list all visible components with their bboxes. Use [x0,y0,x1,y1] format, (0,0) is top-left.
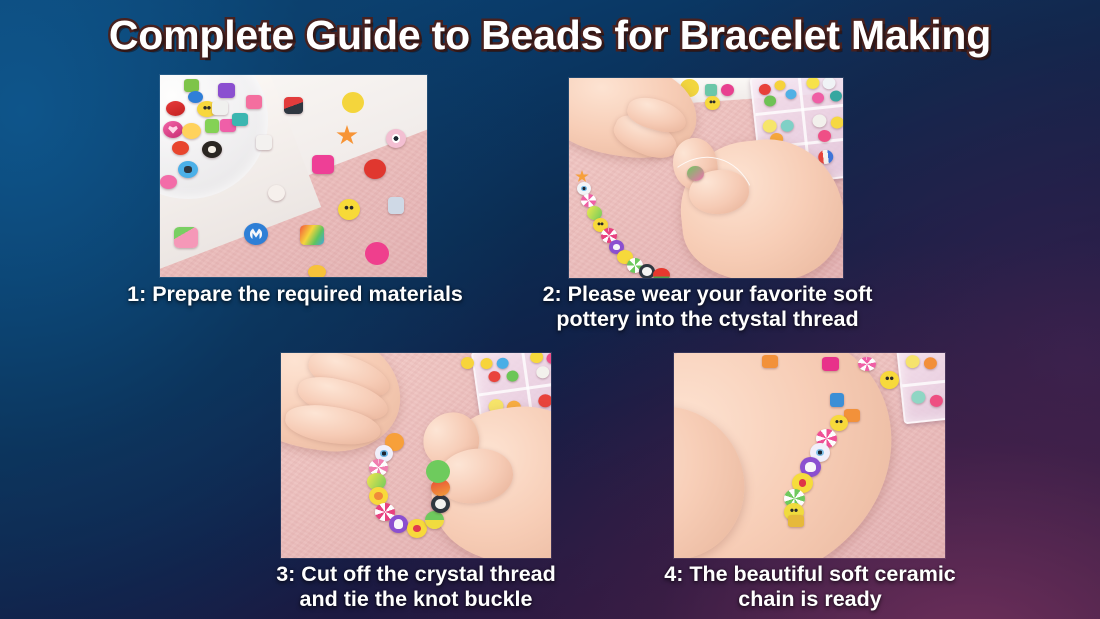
step-3-caption: 3: Cut off the crystal thread and tie th… [226,562,606,612]
bead [762,119,777,133]
bead [338,199,360,220]
bead [246,95,262,109]
ghost-motif [613,244,620,251]
organizer-divider [902,378,945,388]
bead [806,78,820,90]
bead [721,84,734,96]
bead-organizer-box [896,353,945,424]
bead [174,227,198,248]
flower-motif [374,492,383,501]
step-2-caption: 2: Please wear your favorite soft potter… [480,282,935,332]
step-3-caption-line1: 3: Cut off the crystal thread [226,562,606,587]
poster-canvas: Complete Guide to Beads for Bracelet Mak… [0,0,1100,619]
bead [830,415,848,431]
bead [785,89,797,100]
bead [764,95,777,107]
bead [858,357,876,371]
bead [880,371,899,389]
bead [653,268,670,278]
bead [172,141,189,155]
step-3-caption-line2: and tie the knot buckle [226,587,606,612]
bead [431,495,450,513]
bead [184,79,199,92]
step-1-photo [160,75,427,277]
bead [386,129,406,148]
bead [811,92,824,104]
smiley-face [833,418,845,428]
bead [163,121,183,138]
bead [212,101,228,115]
step-1-image [160,75,427,277]
step-3-image [281,353,551,558]
bead [425,511,444,529]
step-4-caption-line1: 4: The beautiful soft ceramic [610,562,1010,587]
eye-motif [380,450,387,457]
bead [368,245,386,262]
ghost-motif [805,462,816,472]
bead [284,97,303,114]
heart-motif [168,125,178,133]
bead-pattern [208,146,217,154]
step-1-caption: 1: Prepare the required materials [60,282,530,307]
bead [431,479,450,496]
bead [830,393,844,407]
soccer-motif [435,499,446,510]
step-4-image [674,353,945,558]
bead [364,159,386,179]
bead-pattern [184,166,192,173]
bead [529,353,544,364]
bead [537,393,551,408]
step-4-caption-line2: chain is ready [610,587,1010,612]
bead [812,114,827,128]
bead [911,390,926,404]
bead [244,223,268,245]
bead [923,357,937,370]
ghost-motif [394,519,404,528]
bead [536,365,551,379]
bead [496,357,509,370]
bead [758,83,771,95]
smiley-face [342,203,356,216]
bead [829,90,842,102]
bead [780,119,794,132]
step-2-photo [569,78,843,278]
bead [389,515,408,533]
bead [160,175,177,189]
soccer-motif [642,267,652,276]
bead [205,119,219,133]
bead [905,354,920,368]
step-2-caption-line1: 2: Please wear your favorite soft [480,282,935,307]
bead [705,84,717,96]
bead [488,370,501,383]
bead [300,225,324,245]
bead-being-threaded [687,166,704,181]
step-1-caption-line1: 1: Prepare the required materials [60,282,530,307]
bead [308,265,326,277]
step-2-caption-line2: pottery into the ctystal thread [480,307,935,332]
lips-motif [413,525,420,532]
bead [407,519,427,538]
bead [429,463,447,480]
bead [822,78,836,90]
eye-motif [581,186,587,191]
bead [929,394,943,407]
bead [705,96,720,110]
step-2-image [569,78,843,278]
letter-m-motif [250,228,263,239]
bead [788,515,804,527]
eye-motif [392,134,401,142]
bead [256,135,272,150]
bead [762,355,778,368]
bead [188,91,203,103]
bead [461,357,474,369]
bead [546,353,551,365]
bead [506,370,519,383]
eye-motif [816,449,824,457]
bead [166,101,185,116]
bead [202,141,222,158]
step-4-caption: 4: The beautiful soft ceramic chain is r… [610,562,1010,612]
bead [218,83,235,98]
bead [268,185,285,201]
bead [830,116,843,129]
step-4-photo [674,353,945,558]
organizer-divider [479,381,551,397]
page-title: Complete Guide to Beads for Bracelet Mak… [0,12,1100,59]
bead [178,161,198,178]
bead [312,155,334,174]
bead [388,197,404,214]
smiley-face [883,374,895,386]
bead [774,80,786,91]
bead [345,95,361,110]
bead [480,357,493,370]
smiley-face [708,99,718,108]
step-3-photo [281,353,551,558]
lips-motif [799,479,807,486]
bead [182,123,201,139]
bead [822,357,839,371]
bead [232,113,248,126]
